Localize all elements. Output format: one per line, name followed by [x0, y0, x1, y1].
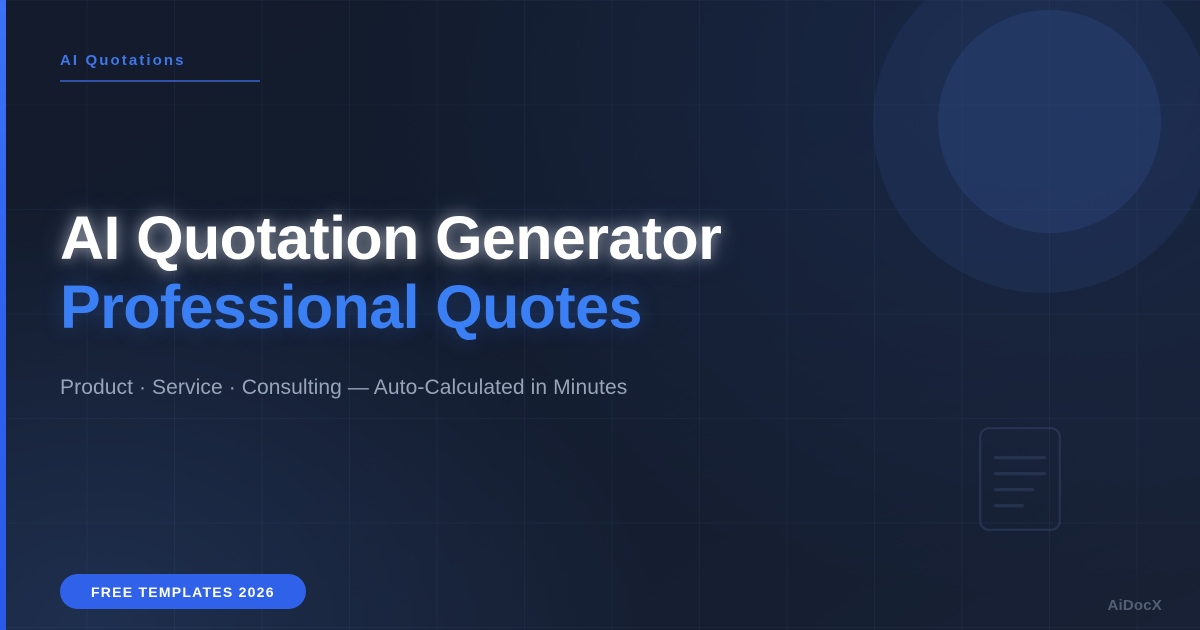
- banner-root: AI Quotations AI Quotation Generator Pro…: [0, 0, 1200, 630]
- decorative-circle-inner-icon: [938, 10, 1161, 233]
- free-templates-badge[interactable]: FREE TEMPLATES 2026: [60, 574, 306, 609]
- headline-line-secondary: Professional Quotes: [60, 273, 1060, 342]
- eyebrow-label: AI Quotations: [60, 52, 260, 69]
- headline-line-primary: AI Quotation Generator: [60, 204, 1060, 273]
- eyebrow-underline: [60, 80, 260, 82]
- page-title: AI Quotation Generator Professional Quot…: [60, 204, 1060, 342]
- document-icon: [979, 427, 1061, 531]
- brand-watermark: AiDocX: [1107, 597, 1162, 614]
- subtitle-text: Product · Service · Consulting — Auto-Ca…: [60, 374, 627, 402]
- eyebrow-group: AI Quotations: [60, 52, 260, 82]
- left-accent-bar: [0, 0, 6, 630]
